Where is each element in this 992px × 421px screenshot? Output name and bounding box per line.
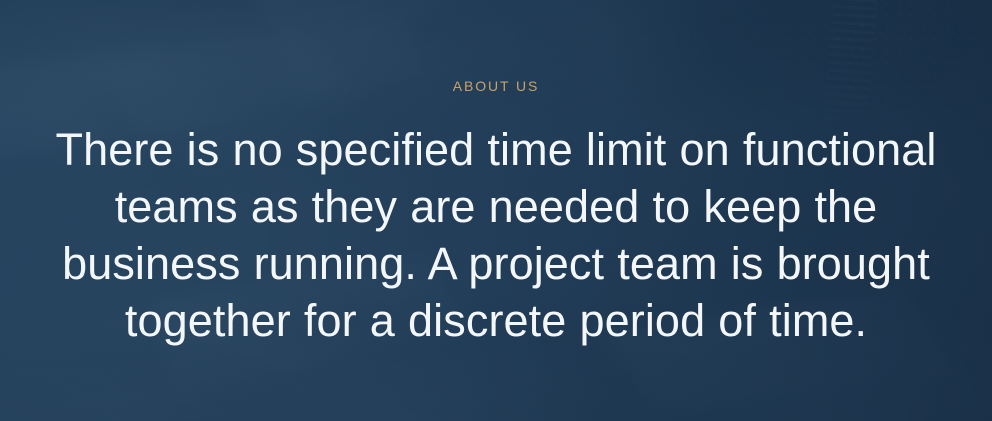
hero-content: ABOUT US There is no specified time limi…	[0, 0, 992, 349]
section-headline: There is no specified time limit on func…	[31, 93, 961, 349]
section-eyebrow-label: ABOUT US	[453, 0, 540, 93]
about-us-hero-section: ABOUT US There is no specified time limi…	[0, 0, 992, 421]
